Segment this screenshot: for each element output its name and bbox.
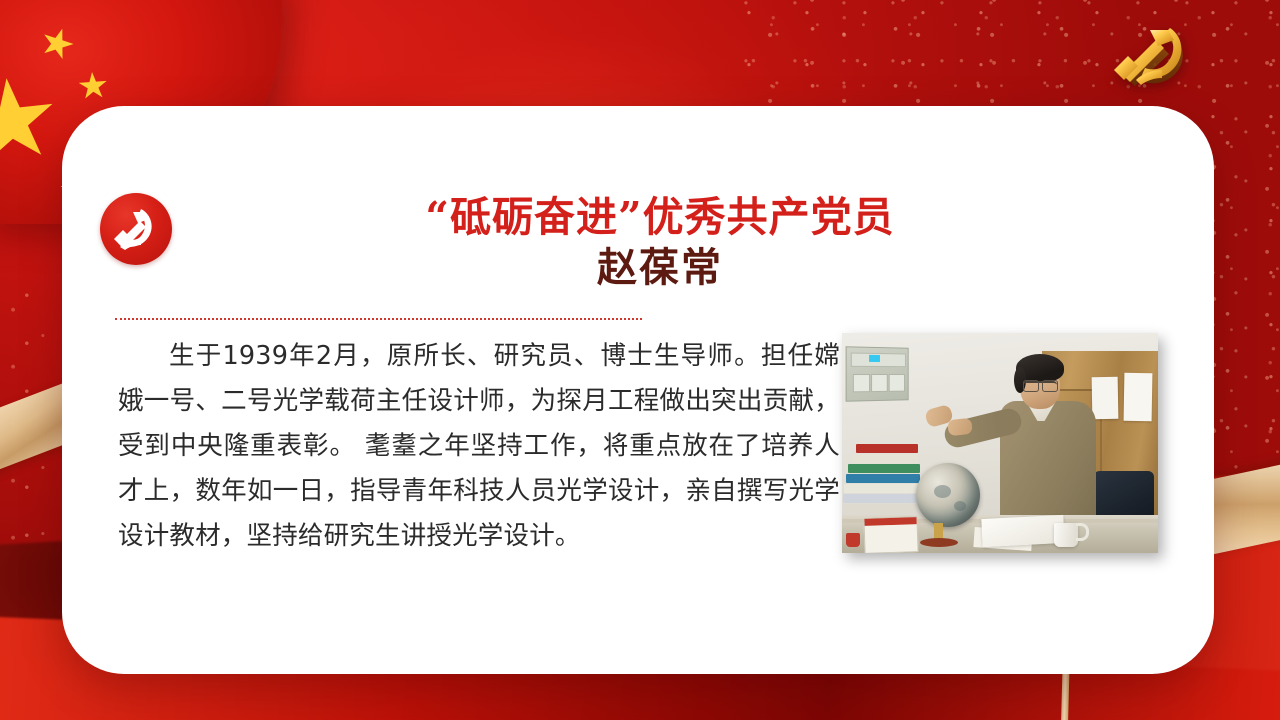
slide: “砥砺奋进”优秀共产党员 赵葆常 生于1939年2月，原所长、研究员、博士生导师…: [0, 0, 1280, 720]
photo-desk-calendar: [863, 516, 918, 553]
photo-book-1: [856, 444, 918, 453]
flag-star-large: [0, 74, 58, 169]
portrait-photo: [842, 333, 1158, 553]
content-card: “砥砺奋进”优秀共产党员 赵葆常 生于1939年2月，原所长、研究员、博士生导师…: [62, 106, 1214, 674]
photo-socket-1: [853, 374, 870, 392]
photo-mug: [1054, 523, 1078, 547]
photo-calendar-header: [864, 517, 916, 526]
photo-panel-led: [869, 355, 880, 362]
photo-globe-marking-1: [934, 485, 951, 498]
photo-book-7: [843, 504, 923, 513]
photo-book-5: [844, 484, 922, 493]
biography-text: 生于1939年2月，原所长、研究员、博士生导师。担任嫦娥一号、二号光学载荷主任设…: [118, 334, 840, 559]
flag-star-small-1: [38, 24, 77, 63]
photo-globe: [916, 463, 980, 527]
photo-red-cup: [846, 533, 860, 547]
photo-book-6: [843, 494, 923, 503]
flag-star-small-2: [78, 71, 108, 101]
photo-book-3: [848, 464, 920, 473]
photo-paper-sheet-1: [981, 515, 1064, 547]
photo-globe-marking-2: [954, 501, 966, 511]
photo-electrical-panel: [846, 346, 909, 402]
party-emblem-hammer-sickle-icon: [100, 193, 172, 265]
photo-socket-2: [871, 374, 888, 392]
photo-socket-3: [889, 374, 905, 392]
dotted-divider: [115, 318, 642, 320]
photo-person-glasses-left: [1023, 380, 1039, 392]
title-block: “砥砺奋进”优秀共产党员 赵葆常: [100, 192, 1170, 272]
photo-book-4: [846, 474, 920, 483]
party-emblem-gold-icon: [1108, 20, 1204, 102]
person-name: 赵葆常: [210, 244, 1110, 292]
page-title: “砥砺奋进”优秀共产党员: [210, 192, 1110, 242]
portrait-photo-image: [842, 333, 1158, 553]
photo-book-2: [852, 454, 918, 463]
photo-person-glasses-right: [1042, 380, 1058, 392]
photo-person: [992, 349, 1104, 527]
photo-wall-paper-2: [1124, 373, 1153, 421]
photo-book-stack: [842, 441, 926, 519]
photo-globe-base: [920, 538, 958, 547]
